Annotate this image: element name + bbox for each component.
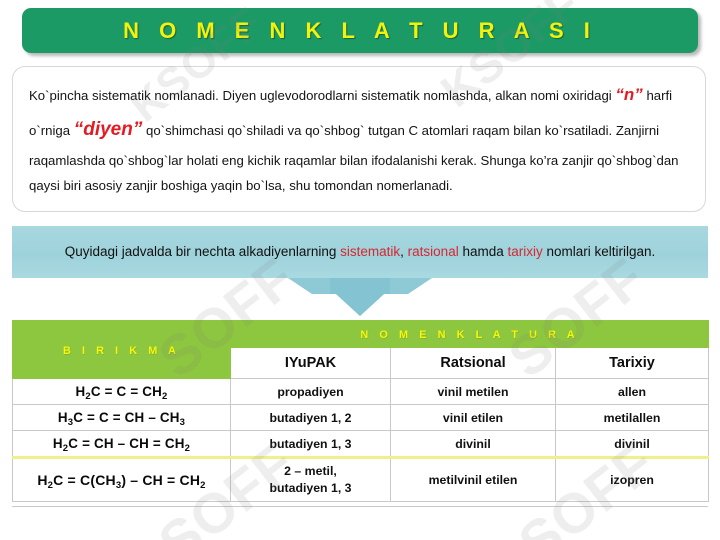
table-body: H2C = C = CH2propadiyenvinil metilenalle…: [13, 379, 709, 502]
table-header-tarixiy: Tarixiy: [556, 348, 709, 379]
table-row: H2C = CH – CH = CH2butadiyen 1, 3divinil…: [13, 431, 709, 458]
cell-formula: H3C = C = CH – CH3: [13, 405, 231, 431]
cell-ratsional: vinil etilen: [391, 405, 556, 431]
cell-ratsional: metilvinil etilen: [391, 458, 556, 502]
table-row: H2C = C = CH2propadiyenvinil metilenalle…: [13, 379, 709, 405]
cell-tarixiy: metilallen: [556, 405, 709, 431]
cell-formula: H2C = CH – CH = CH2: [13, 431, 231, 458]
cell-iyupak: butadiyen 1, 2: [231, 405, 391, 431]
table-header-nomenklatura: N O M E N K L A T U R A: [231, 321, 709, 348]
nomenclature-table: B I R I K M A N O M E N K L A T U R A IY…: [12, 320, 709, 502]
highlight-ratsional: ratsional: [408, 244, 459, 259]
info-banner: Quyidagi jadvalda bir nechta alkadiyenla…: [12, 226, 708, 278]
cell-tarixiy: allen: [556, 379, 709, 405]
info-lead: Quyidagi jadvalda bir nechta alkadiyenla…: [65, 244, 340, 259]
cell-tarixiy: izopren: [556, 458, 709, 502]
table-bottom-rule: [12, 506, 708, 507]
cell-tarixiy: divinil: [556, 431, 709, 458]
highlight-sistematik: sistematik: [340, 244, 400, 259]
table-header-nomenklatura-label: N O M E N K L A T U R A: [360, 329, 578, 341]
info-mid: hamda: [459, 244, 508, 259]
cell-iyupak: propadiyen: [231, 379, 391, 405]
cell-iyupak-line-2: butadiyen 1, 3: [231, 480, 390, 497]
cell-formula: H2C = C = CH2: [13, 379, 231, 405]
table-header-birikma-label: B I R I K M A: [63, 345, 180, 357]
info-sep-1: ,: [400, 244, 408, 259]
description-text: Ko`pincha sistematik nomlanadi. Diyen ug…: [29, 79, 689, 199]
info-tail: nomlari keltirilgan.: [543, 244, 656, 259]
emphasis-diyen: “diyen”: [74, 119, 143, 140]
table-row: H2C = C(CH3) – CH = CH22 – metil,butadiy…: [13, 458, 709, 502]
table-header-ratsional: Ratsional: [391, 348, 556, 379]
down-arrow-icon: [288, 278, 432, 316]
cell-ratsional: vinil metilen: [391, 379, 556, 405]
description-card: Ko`pincha sistematik nomlanadi. Diyen ug…: [12, 66, 706, 212]
page-title: N O M E N K L A T U R A S I: [123, 18, 597, 44]
cell-formula: H2C = C(CH3) – CH = CH2: [13, 458, 231, 502]
cell-iyupak: butadiyen 1, 3: [231, 431, 391, 458]
table-header-row-1: B I R I K M A N O M E N K L A T U R A: [13, 321, 709, 348]
info-banner-text: Quyidagi jadvalda bir nechta alkadiyenla…: [39, 242, 682, 263]
cell-iyupak-line-1: 2 – metil,: [231, 463, 390, 480]
highlight-tarixiy: tarixiy: [507, 244, 542, 259]
description-part-1: Ko`pincha sistematik nomlanadi. Diyen ug…: [29, 88, 615, 103]
cell-ratsional: divinil: [391, 431, 556, 458]
table-header-birikma: B I R I K M A: [13, 321, 231, 379]
table-header-iyupak: IYuPAK: [231, 348, 391, 379]
emphasis-n: “n”: [615, 85, 642, 104]
table-row: H3C = C = CH – CH3butadiyen 1, 2vinil et…: [13, 405, 709, 431]
page-title-banner: N O M E N K L A T U R A S I: [22, 8, 698, 53]
cell-iyupak: 2 – metil,butadiyen 1, 3: [231, 458, 391, 502]
